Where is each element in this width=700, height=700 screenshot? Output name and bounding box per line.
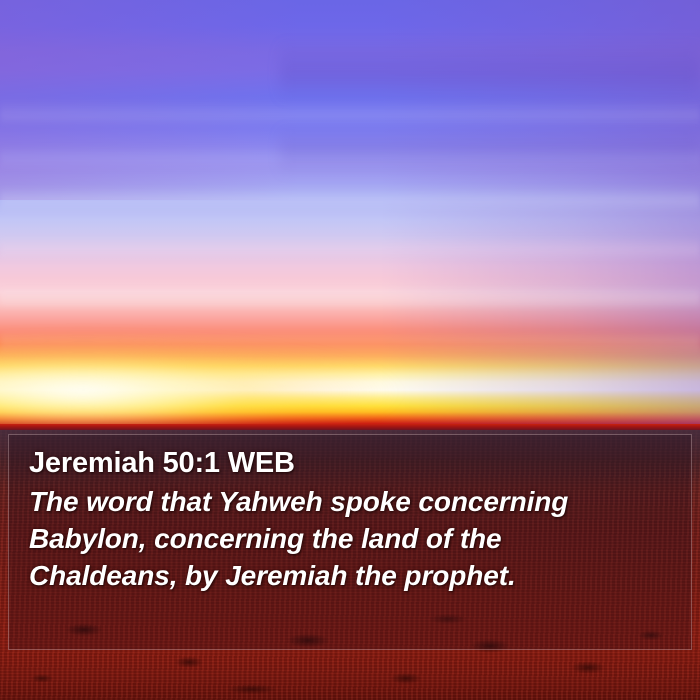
verse-image-canvas: Jeremiah 50:1 WEB The word that Yahweh s… xyxy=(0,0,700,700)
verse-text-line-1: The word that Yahweh spoke concerning xyxy=(29,483,671,520)
verse-reference: Jeremiah 50:1 WEB xyxy=(29,443,671,483)
dark-cloud-bands xyxy=(280,40,700,220)
verse-overlay-panel: Jeremiah 50:1 WEB The word that Yahweh s… xyxy=(8,434,692,650)
verse-text-line-2: Babylon, concerning the land of the xyxy=(29,520,671,557)
sun-glow xyxy=(0,300,480,432)
verse-text-line-3: Chaldeans, by Jeremiah the prophet. xyxy=(29,557,671,594)
